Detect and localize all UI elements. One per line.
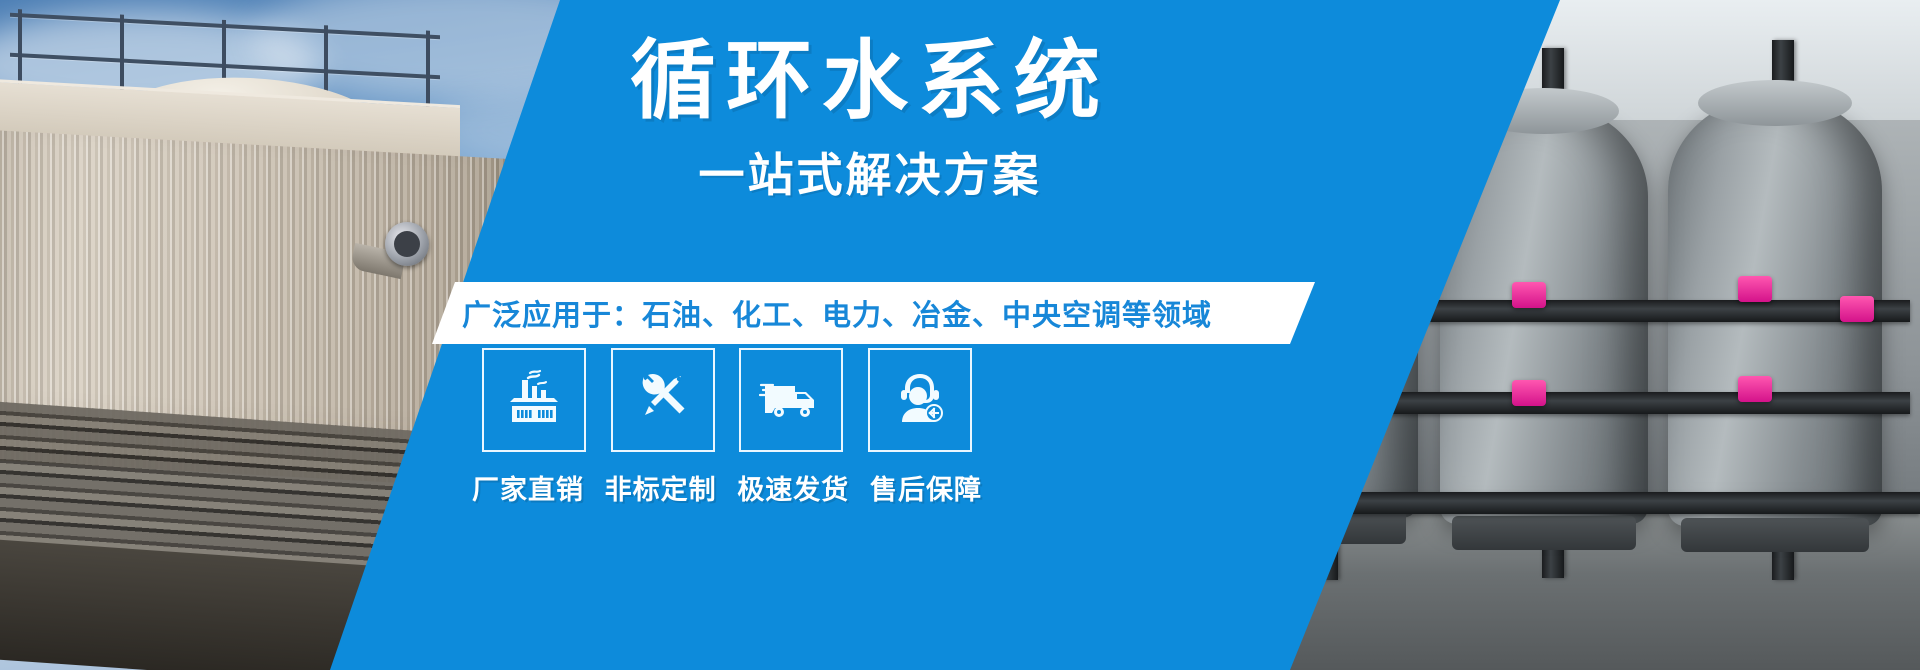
- feature-icon-box-truck[interactable]: [739, 348, 843, 452]
- feature-icon-box-tools[interactable]: [611, 348, 715, 452]
- application-band-text: 广泛应用于：石油、化工、电力、冶金、中央空调等领域: [0, 282, 1920, 344]
- pink-valve: [1512, 380, 1546, 406]
- feature-label-1: 非标定制: [595, 468, 727, 507]
- feature-label-2: 极速发货: [727, 468, 859, 507]
- tower-vent: [385, 222, 429, 266]
- feature-icon-box-support[interactable]: [868, 348, 972, 452]
- truck-icon: [759, 366, 823, 435]
- feature-label-0: 厂家直销: [462, 468, 594, 507]
- factory-icon: [502, 366, 566, 435]
- feature-label-row: 厂家直销 非标定制 极速发货 售后保障: [462, 468, 992, 507]
- feature-label-3: 售后保障: [860, 468, 992, 507]
- tools-icon: [631, 366, 695, 435]
- feature-icon-box-factory[interactable]: [482, 348, 586, 452]
- page-title: 循环水系统: [610, 38, 1130, 124]
- page-subtitle: 一站式解决方案: [610, 152, 1130, 198]
- promo-banner: 循环水系统 一站式解决方案 广泛应用于：石油、化工、电力、冶金、中央空调等领域: [0, 0, 1920, 670]
- feature-icon-row: [482, 348, 972, 452]
- pink-valve: [1738, 376, 1772, 402]
- support-agent-icon: [888, 366, 952, 435]
